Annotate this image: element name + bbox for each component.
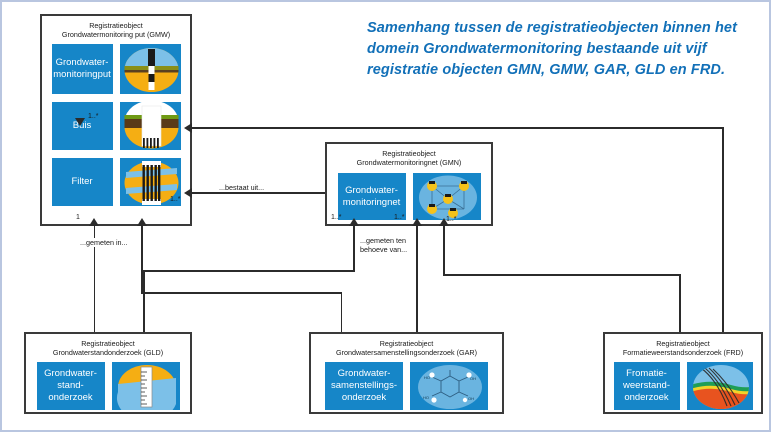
edge-gar-to-filter-v2 [341, 292, 343, 333]
svg-text:OH: OH [470, 376, 476, 381]
diagram-title: Samenhang tussen de registratieobjecten … [367, 18, 757, 81]
molecule-icon: HO OH HO OH [409, 361, 489, 411]
arrowhead-put-to-buis [75, 118, 85, 126]
class-filter[interactable]: Filter [51, 157, 114, 207]
class-grondwatermonitoringput[interactable]: Grondwater- monitoringput [51, 43, 114, 95]
arrowhead-gar-to-gmn [412, 218, 422, 226]
edge-label-gemeten-in: ...gemeten in... [78, 238, 130, 247]
edge-gar-to-filter-h [141, 292, 342, 294]
registration-object-frd[interactable]: Registratieobject Formatieweerstandsonde… [603, 332, 763, 414]
water-level-ruler-icon [111, 361, 181, 411]
edge-gld-to-gmn-v1 [353, 226, 355, 272]
edge-gar-to-gmn-v [416, 226, 418, 333]
diagram-canvas: Samenhang tussen de registratieobjecten … [0, 0, 771, 432]
edge-gld-to-gmn-h [143, 270, 354, 272]
gar-title: Registratieobject Grondwatersamenstellin… [311, 334, 502, 357]
gar-classes: Grondwater- samenstellings- onderzoek [311, 357, 502, 411]
gmn-title: Registratieobject Grondwatermonitoringne… [327, 144, 491, 167]
gld-classes: Grondwater- stand- onderzoek [26, 357, 190, 411]
registration-object-gmw[interactable]: Registratieobject Grondwatermonitoring p… [40, 14, 192, 226]
multiplicity-buis-filter-left: 1 [76, 214, 80, 221]
edge-gmn-to-gmw-v [722, 127, 724, 332]
multiplicity-gmn-a: 1..* [331, 214, 342, 221]
tube-icon [119, 101, 182, 151]
frd-classes: Fromatie- weerstand- onderzoek [605, 357, 761, 411]
class-grondwaterstandonderzoek[interactable]: Grondwater- stand- onderzoek [36, 361, 106, 411]
registration-object-gld[interactable]: Registratieobject Grondwaterstandonderzo… [24, 332, 192, 414]
edge-frd-to-gmn-v1 [443, 226, 445, 276]
edge-label-gemeten-ten-behoeve-van: ...gemeten ten behoeve van... [358, 236, 409, 254]
edge-frd-to-gmn-v2 [679, 274, 681, 332]
edge-bestaat-uit [192, 192, 325, 194]
svg-text:HO: HO [424, 375, 430, 380]
network-icon [412, 172, 482, 221]
svg-text:OH: OH [468, 396, 474, 401]
class-buis[interactable]: Buis [51, 101, 114, 151]
edge-label-bestaat-uit: ...bestaat uit... [217, 183, 266, 192]
arrowhead-gld-to-filter [89, 218, 99, 226]
arrowhead-bestaat-uit [184, 188, 192, 198]
gmw-classes-2: Buis [42, 95, 190, 151]
arrowhead-gar-to-filter [137, 218, 147, 226]
arrowhead-gld-to-gmn [349, 218, 359, 226]
multiplicity-gmn-c: 1..* [446, 216, 457, 223]
registration-object-gmn[interactable]: Registratieobject Grondwatermonitoringne… [325, 142, 493, 226]
arrowhead-gmn-to-gmw [184, 123, 192, 133]
svg-text:HO: HO [423, 395, 429, 400]
multiplicity-gmn-b: 1..* [394, 214, 405, 221]
edge-frd-to-gmn-h [443, 274, 681, 276]
class-formatieweerstandsonderzoek[interactable]: Fromatie- weerstand- onderzoek [613, 361, 681, 411]
registration-object-gar[interactable]: Registratieobject Grondwatersamenstellin… [309, 332, 504, 414]
gmw-title: Registratieobject Grondwatermonitoring p… [42, 16, 190, 39]
frd-title: Registratieobject Formatieweerstandsonde… [605, 334, 761, 357]
edge-gmn-to-gmw-h [192, 127, 724, 129]
edge-gld-to-gmn-v2 [143, 270, 145, 333]
multiplicity-put-buis: 1..* [88, 113, 99, 120]
gmn-classes: Grondwater- monitoringnet [327, 167, 491, 221]
monitoring-well-icon [119, 43, 182, 95]
gld-title: Registratieobject Grondwaterstandonderzo… [26, 334, 190, 357]
gmw-classes: Grondwater- monitoringput [42, 39, 190, 95]
multiplicity-filter-right: 1..* [170, 196, 181, 203]
gmw-classes-3: Filter [42, 151, 190, 207]
formation-resistance-icon [686, 361, 754, 411]
class-grondwatersamenstellingsonderzoek[interactable]: Grondwater- samenstellings- onderzoek [324, 361, 404, 411]
